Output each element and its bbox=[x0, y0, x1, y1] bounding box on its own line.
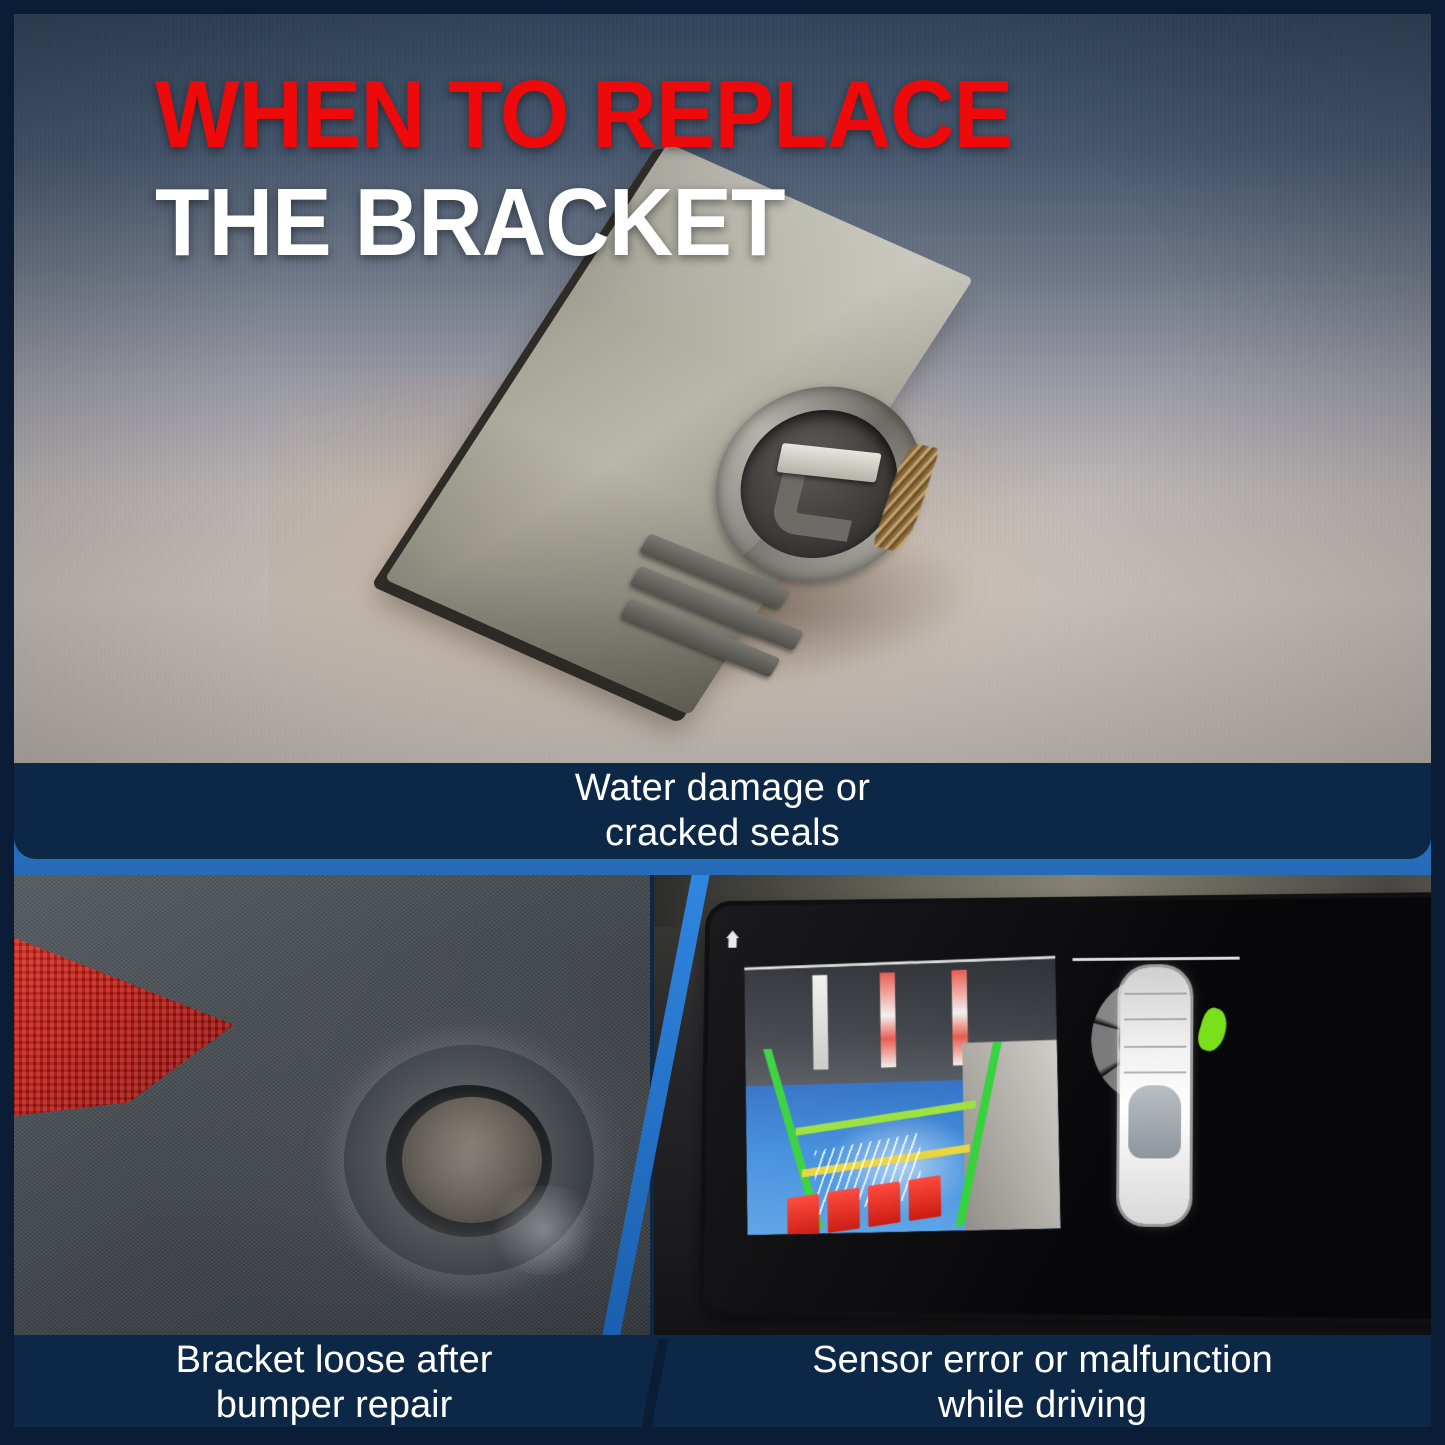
home-icon[interactable] bbox=[726, 930, 739, 947]
vehicle-top-view bbox=[1119, 967, 1191, 1224]
caption-line-1: Water damage or bbox=[575, 766, 870, 811]
vehicle-seam bbox=[1124, 1071, 1186, 1073]
garage-pillar bbox=[880, 972, 897, 1068]
vehicle-seam bbox=[1124, 1018, 1186, 1020]
caption-bracket-loose: Bracket loose after bumper repair bbox=[14, 1339, 654, 1427]
head-unit-screen[interactable]: 23:07 bbox=[703, 890, 1431, 1327]
caption-line-1: Sensor error or malfunction bbox=[812, 1338, 1272, 1383]
title-line-2: THE BRACKET bbox=[155, 176, 1012, 270]
title-line-1: WHEN TO REPLACE bbox=[155, 68, 1012, 162]
caption-line-2: while driving bbox=[812, 1383, 1272, 1427]
bumper-surface bbox=[14, 875, 650, 1335]
caption-line-1: Bracket loose after bbox=[176, 1338, 493, 1383]
infotainment-photo: 23:07 bbox=[654, 875, 1431, 1335]
warning-bar bbox=[787, 1193, 819, 1235]
warning-bar bbox=[827, 1187, 860, 1233]
caption-line-2: cracked seals bbox=[575, 811, 870, 856]
vehicle-seam bbox=[1124, 1046, 1186, 1048]
salt-crust bbox=[484, 1185, 604, 1275]
vehicle-roof bbox=[1128, 1085, 1181, 1158]
bracket-photo: WHEN TO REPLACE THE BRACKET bbox=[14, 14, 1431, 763]
caption-sensor-error: Sensor error or malfunction while drivin… bbox=[654, 1339, 1431, 1427]
warning-bar bbox=[868, 1181, 901, 1227]
bottom-caption-row: Bracket loose after bumper repair Sensor… bbox=[14, 1339, 1431, 1427]
warning-bar bbox=[908, 1175, 941, 1221]
caption-water-damage: Water damage or cracked seals bbox=[14, 763, 1431, 859]
top-down-sensor-view bbox=[1076, 957, 1234, 1245]
vehicle-seam bbox=[1124, 993, 1186, 995]
poster-inner: WHEN TO REPLACE THE BRACKET Water damage… bbox=[14, 14, 1431, 1427]
bumper-photo bbox=[14, 875, 650, 1335]
rear-camera-view bbox=[744, 956, 1060, 1235]
infographic-poster: WHEN TO REPLACE THE BRACKET Water damage… bbox=[0, 0, 1445, 1445]
dashboard-surround: 23:07 bbox=[654, 875, 1431, 1335]
page-title: WHEN TO REPLACE THE BRACKET bbox=[155, 68, 1077, 270]
status-bar: 23:07 bbox=[709, 908, 1431, 956]
caption-line-2: bumper repair bbox=[176, 1383, 493, 1427]
panel-separator-line bbox=[1072, 957, 1239, 961]
garage-pillar bbox=[812, 974, 828, 1070]
